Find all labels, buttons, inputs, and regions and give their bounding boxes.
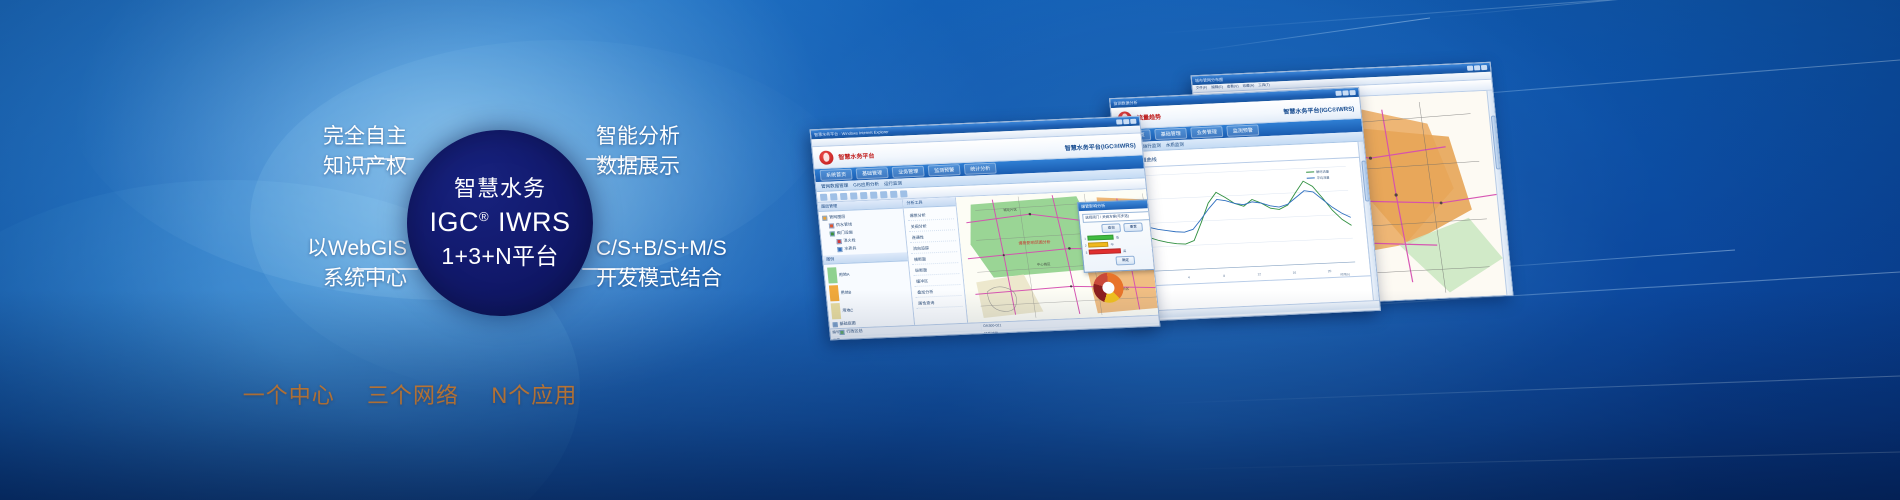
nav-item-4[interactable]: 统计分析 — [964, 163, 997, 175]
tagline-part-1: 一个中心 — [243, 378, 335, 410]
svg-text:12: 12 — [1257, 272, 1261, 276]
dialog-body: 选择阀门 / 关阀方案(可多选) 查询 重置 1 低 — [1079, 208, 1159, 272]
tagline: 一个中心 三个网络 N个应用 — [0, 378, 820, 410]
property-value: DN300-021 — [981, 322, 1004, 330]
property-value: 300mm — [983, 338, 999, 340]
tagline-part-3: N个应用 — [491, 378, 577, 410]
level-range: 中 — [1110, 242, 1113, 246]
feature-top-left: 完全自主 知识产权 — [160, 122, 407, 182]
map-canvas[interactable]: 爆管影响范围分析 城北片区 工业园区 中心城区 开发新区 爆管 — [956, 189, 1159, 322]
tree-node-label: 水表井 — [844, 245, 857, 251]
tool-list-item[interactable]: 叠加分析 — [915, 286, 961, 298]
tree-node-label: 供水管线 — [836, 222, 853, 229]
svg-text:城北片区: 城北片区 — [1003, 207, 1018, 213]
svg-text:瞬时流量: 瞬时流量 — [1316, 169, 1330, 175]
level-range: 高 — [1123, 249, 1126, 253]
close-icon — [1481, 65, 1487, 70]
query-icon — [880, 191, 888, 198]
tool-list-item[interactable]: 横断面 — [912, 253, 958, 265]
measure-icon — [870, 191, 878, 198]
tool-list-item[interactable]: 属性查询 — [916, 297, 962, 309]
legend-label: 用地B — [840, 290, 851, 296]
flow-chart[interactable]: 1209060300048121620瞬时流量平均流量流量(m³/h)时间(h) — [1122, 157, 1372, 287]
locate-icon — [890, 190, 898, 197]
layer-swatch — [822, 215, 827, 220]
menu-item-0[interactable]: 文件(F) — [1196, 86, 1208, 91]
message-block: 完全自主 知识产权 以WebGIS 系统中心 智能分析 数据展示 C/S+B/S… — [0, 0, 820, 500]
level-index: 2 — [1085, 243, 1087, 247]
legend-swatch — [827, 267, 838, 283]
svg-text:平均流量: 平均流量 — [1316, 175, 1330, 181]
dialog-reset-button[interactable]: 重置 — [1123, 222, 1143, 232]
menu-item-2[interactable]: 查看(V) — [1227, 84, 1239, 90]
hub-brand-registered: ® — [479, 209, 489, 224]
tool-list-item[interactable]: 连通性 — [909, 231, 955, 243]
layer-swatch — [836, 239, 841, 244]
maximize-icon — [1123, 119, 1129, 124]
layers-icon — [820, 193, 828, 200]
tool-list-item[interactable]: 缓冲区 — [914, 275, 960, 287]
nav-item-1[interactable]: 基础管理 — [856, 167, 889, 179]
layer-panel[interactable]: 图层管理 管网图层 供水管线 阀门设施 消火栓 水表井 图例 用地A 用地B 用… — [818, 199, 916, 328]
tool-list-item[interactable]: 流向追踪 — [910, 242, 956, 254]
company-logo-icon — [819, 150, 834, 165]
level-bar — [1088, 242, 1109, 248]
level-index: 1 — [1084, 236, 1086, 240]
menu-item-4[interactable]: 工具(T) — [1258, 83, 1270, 88]
dialog-footer[interactable]: 确定 — [1086, 254, 1158, 266]
screenshot-stack: 城市管网分布图 文件(F) 编辑(E) 查看(V) 收藏(A) 工具(T) — [790, 0, 1900, 500]
nav-item-2[interactable]: 业务管理 — [892, 166, 925, 178]
window-gis-body: 图层管理 管网图层 供水管线 阀门设施 消火栓 水表井 图例 用地A 用地B 用… — [818, 189, 1159, 328]
nav-item-1[interactable]: 基础管理 — [1154, 128, 1187, 140]
tree-node-label: 消火栓 — [843, 237, 856, 243]
legend-row: 用地B — [829, 282, 909, 301]
print-icon — [900, 190, 908, 197]
tree-node-label: 阀门设施 — [837, 230, 854, 237]
close-icon — [1349, 90, 1355, 95]
svg-text:中心城区: 中心城区 — [1036, 261, 1051, 267]
level-range: 低 — [1116, 235, 1119, 239]
feature-bottom-left: 以WebGIS 系统中心 — [160, 234, 407, 294]
legend-header: 图例 — [823, 252, 908, 264]
close-icon — [1130, 119, 1136, 124]
property-value: 球墨铸铁 — [982, 330, 1001, 338]
dialog-title: 爆管影响分析 — [1081, 203, 1106, 210]
legend-label: 用地C — [842, 307, 853, 313]
tool-list-item[interactable]: 纵断面 — [913, 264, 959, 276]
subnav-item-1[interactable]: 运行监测 — [1143, 142, 1162, 149]
level-index: 3 — [1085, 250, 1087, 254]
legend-label: 用地A — [839, 272, 850, 278]
zoom-in-icon — [830, 193, 838, 200]
window-controls[interactable] — [1467, 65, 1487, 71]
level-bar — [1088, 235, 1115, 241]
feature-top-right: 智能分析 数据展示 — [596, 122, 680, 182]
layer-swatch — [832, 322, 837, 327]
feature-bottom-right: C/S+B/S+M/S 开发模式结合 — [596, 234, 727, 294]
menu-item-1[interactable]: 编辑(E) — [1211, 85, 1223, 91]
dialog-buttons[interactable]: 查询 重置 — [1083, 222, 1158, 234]
feature-bottom-right-line2: 开发模式结合 — [596, 264, 727, 294]
window-gis-statusbar: 比例尺 1:5000 坐标 X:3482 Y:1205 就绪 — [833, 340, 1161, 341]
window-controls[interactable] — [1116, 119, 1137, 125]
minimize-icon — [1335, 91, 1341, 96]
legend-row: 用地C — [831, 300, 911, 319]
minimize-icon — [1467, 66, 1473, 71]
analysis-dialog[interactable]: 爆管影响分析 × 选择阀门 / 关阀方案(可多选) 查询 重置 1 — [1077, 199, 1159, 273]
feature-top-left-line1: 完全自主 — [160, 122, 407, 152]
maximize-icon — [1474, 65, 1480, 70]
nav-item-3[interactable]: 监测预警 — [1226, 124, 1259, 136]
menu-item-3[interactable]: 收藏(A) — [1242, 83, 1254, 89]
subnav-item-1[interactable]: GIS应用分析 — [853, 181, 879, 188]
banner-root: 完全自主 知识产权 以WebGIS 系统中心 智能分析 数据展示 C/S+B/S… — [0, 0, 1900, 500]
subnav-item-2[interactable]: 运行监测 — [884, 180, 903, 187]
tree-node-label: 基础底图 — [839, 320, 856, 327]
zoom-out-icon — [840, 192, 848, 199]
hub-platform: 1+3+N平台 — [441, 243, 558, 270]
nav-item-3[interactable]: 监测预警 — [928, 164, 961, 176]
feature-bottom-right-line1: C/S+B/S+M/S — [596, 234, 727, 264]
dialog-level-table: 1 低 2 中 3 — [1084, 233, 1158, 255]
svg-text:20: 20 — [1328, 269, 1332, 273]
brand-right-text: 智慧水务平台(IGC®IWRS) — [1064, 140, 1136, 152]
hub-brand-iwrs: IWRS — [498, 207, 571, 237]
svg-text:16: 16 — [1292, 271, 1296, 275]
brand-right-text: 智慧水务平台(IGC®IWRS) — [1283, 103, 1355, 115]
hub-title: 智慧水务 — [454, 176, 546, 202]
minimize-icon — [1116, 119, 1122, 124]
window-controls[interactable] — [1335, 90, 1355, 96]
level-row: 3 高 — [1085, 247, 1158, 255]
dialog-field[interactable]: 选择阀门 / 关阀方案(可多选) — [1082, 211, 1158, 223]
layer-swatch — [837, 246, 842, 251]
window-gis[interactable]: 智慧水务平台 - Windows Internet Explorer 智慧水务平… — [810, 116, 1161, 341]
pan-icon — [850, 192, 858, 199]
platform-hub-circle: 智慧水务 IGC®IWRS 1+3+N平台 — [407, 130, 593, 316]
select-icon — [860, 191, 868, 198]
brand-text: 智慧水务平台 — [838, 151, 875, 161]
layer-swatch — [829, 223, 834, 228]
subnav-item-2[interactable]: 水质监测 — [1166, 141, 1185, 148]
tagline-part-2: 三个网络 — [367, 378, 459, 410]
subnav-item-0[interactable]: 管网数据管理 — [821, 182, 849, 189]
feature-top-left-line2: 知识产权 — [160, 152, 407, 182]
tool-list[interactable]: 爆管分析 关阀分析 连通性 流向追踪 横断面 纵断面 缓冲区 叠加分析 属性查询 — [904, 206, 966, 313]
dialog-confirm-button[interactable]: 确定 — [1116, 256, 1136, 266]
svg-text:时间(h): 时间(h) — [1340, 271, 1350, 276]
nav-item-2[interactable]: 业务管理 — [1190, 126, 1223, 138]
layer-tree[interactable]: 管网图层 供水管线 阀门设施 消火栓 水表井 图例 用地A 用地B 用地C 基础… — [819, 208, 916, 340]
hub-brand: IGC®IWRS — [429, 207, 570, 239]
layer-swatch — [830, 231, 835, 236]
tool-list-item[interactable]: 关阀分析 — [908, 220, 954, 232]
tree-node[interactable]: 水表井 — [825, 243, 904, 252]
hub-brand-igc: IGC — [429, 207, 479, 237]
level-bar — [1089, 248, 1122, 254]
tool-list-item[interactable]: 爆管分析 — [907, 209, 953, 221]
legend-row: 用地A — [827, 264, 907, 283]
feature-bottom-left-line2: 系统中心 — [160, 264, 407, 294]
legend-swatch — [831, 303, 842, 319]
feature-top-right-line2: 数据展示 — [596, 152, 680, 182]
feature-top-right-line1: 智能分析 — [596, 122, 680, 152]
dialog-query-button[interactable]: 查询 — [1101, 223, 1121, 233]
maximize-icon — [1342, 90, 1348, 95]
legend-swatch — [829, 285, 840, 301]
nav-item-0[interactable]: 系统首页 — [820, 169, 853, 181]
tree-node-label: 管网图层 — [829, 214, 846, 221]
feature-bottom-left-line1: 以WebGIS — [160, 234, 407, 264]
